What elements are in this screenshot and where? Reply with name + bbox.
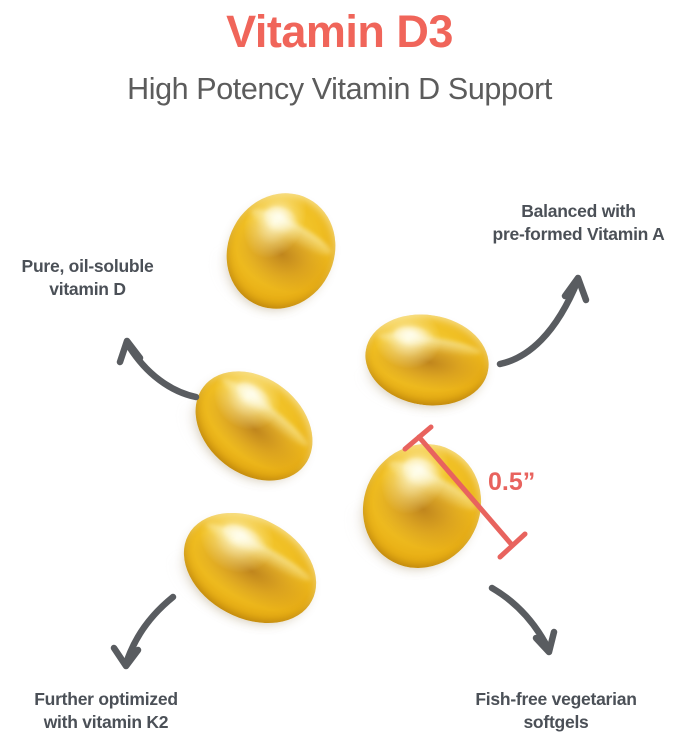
annotation-pure-oil-soluble: Pure, oil-soluble vitamin D [0,255,175,301]
softgel-bottom-right [342,424,503,589]
infographic-canvas: Vitamin D3 High Potency Vitamin D Suppor… [0,0,679,735]
softgel-body [207,174,356,328]
softgel-mid-right [359,306,496,414]
softgel-body [342,424,503,589]
annotation-vitamin-k2: Further optimized with vitamin K2 [0,688,212,734]
annotation-balanced-vitamin-a: Balanced with pre-formed Vitamin A [478,200,679,246]
softgel-group [0,0,679,735]
softgel-bottom-left [165,491,336,645]
annotation-fish-free-softgels: Fish-free vegetarian softgels [433,688,679,734]
dimension-label: 0.5” [488,468,535,497]
softgel-top [207,174,356,328]
softgel-mid-left [174,349,334,503]
